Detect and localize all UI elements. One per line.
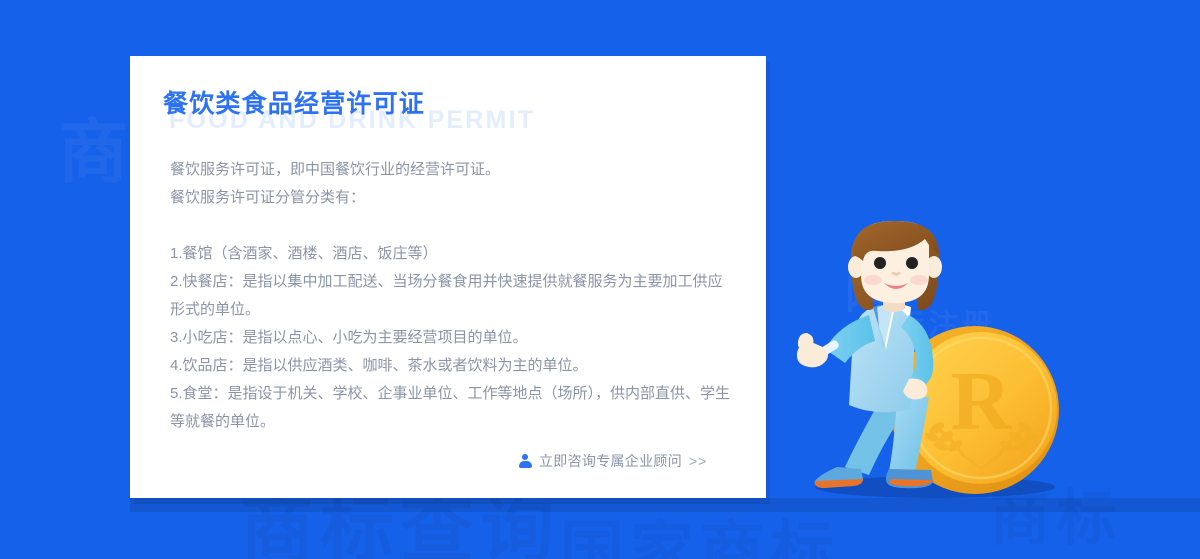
paragraph-spacer (170, 212, 730, 240)
title-text: 餐饮类食品经营许可证 (163, 84, 425, 120)
paragraph: 5.食堂：是指设于机关、学校、企事业单位、工作等地点（场所），供内部直供、学生等… (170, 380, 730, 436)
user-icon (518, 454, 532, 469)
nose (893, 273, 899, 275)
consult-advisor-link[interactable]: 立即咨询专属企业顾问 >> (518, 451, 707, 471)
eye-left (874, 257, 886, 269)
chevron-right-double-icon: >> (689, 453, 707, 469)
front-shoe (886, 469, 933, 488)
cheek-left (864, 275, 882, 285)
paragraph: 餐饮服务许可证分管分类有： (170, 184, 730, 212)
paragraph: 4.饮品店：是指以供应酒类、咖啡、茶水或者饮料为主的单位。 (170, 352, 730, 380)
body-copy: 餐饮服务许可证，即中国餐饮行业的经营许可证。 餐饮服务许可证分管分类有： 1.餐… (170, 156, 730, 436)
svg-text:R: R (951, 355, 1013, 448)
paragraph: 餐饮服务许可证，即中国餐饮行业的经营许可证。 (170, 156, 730, 184)
paragraph: 3.小吃店：是指以点心、小吃为主要经营项目的单位。 (170, 324, 730, 352)
cheek-right (910, 275, 928, 285)
paragraph: 2.快餐店：是指以集中加工配送、当场分餐食用并快速提供就餐服务为主要加工供应形式… (170, 268, 730, 324)
paragraph: 1.餐馆（含酒家、酒楼、酒店、饭庄等） (170, 240, 730, 268)
back-shoe (815, 467, 863, 488)
page-title: FOOD AND DRINK PERMIT 餐饮类食品经营许可证 (163, 84, 425, 136)
thumbs-up-hand (797, 333, 828, 367)
info-card: FOOD AND DRINK PERMIT 餐饮类食品经营许可证 餐饮服务许可证… (130, 56, 766, 498)
businesswoman-with-coin-illustration: R (785, 215, 1075, 510)
consult-advisor-label: 立即咨询专属企业顾问 (539, 451, 682, 471)
eye-right (906, 257, 918, 269)
